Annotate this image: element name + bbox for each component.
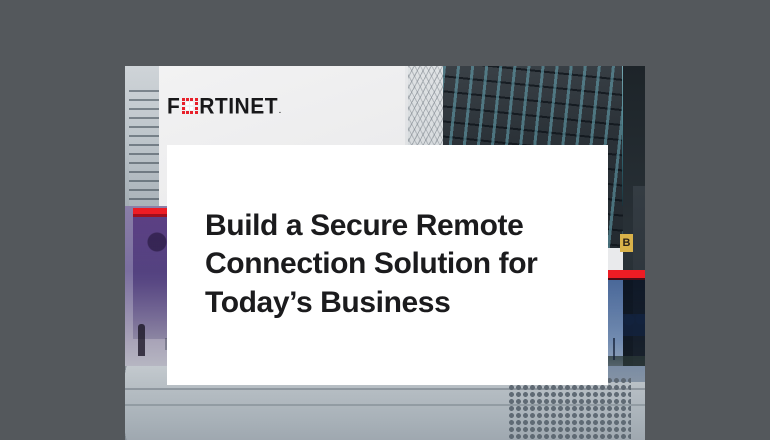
title-card: Build a Secure Remote Connection Solutio…	[167, 145, 608, 385]
fortinet-logo-mark-icon	[182, 98, 198, 114]
fortinet-logo-trademark: .	[279, 108, 281, 115]
photo-street-pole	[613, 338, 615, 360]
fortinet-logo-text-rtinet: RTINET	[199, 96, 278, 117]
document-page[interactable]: B F	[125, 66, 645, 440]
photo-people-silhouettes	[623, 314, 645, 342]
dot-grid-pattern	[507, 376, 631, 440]
photo-building-sign: B	[620, 234, 633, 252]
document-title: Build a Secure Remote Connection Solutio…	[205, 207, 587, 322]
fortinet-logo: F RTINET .	[167, 96, 281, 118]
fortinet-logo-text-f: F	[167, 96, 180, 117]
document-viewer: B F	[0, 0, 770, 440]
